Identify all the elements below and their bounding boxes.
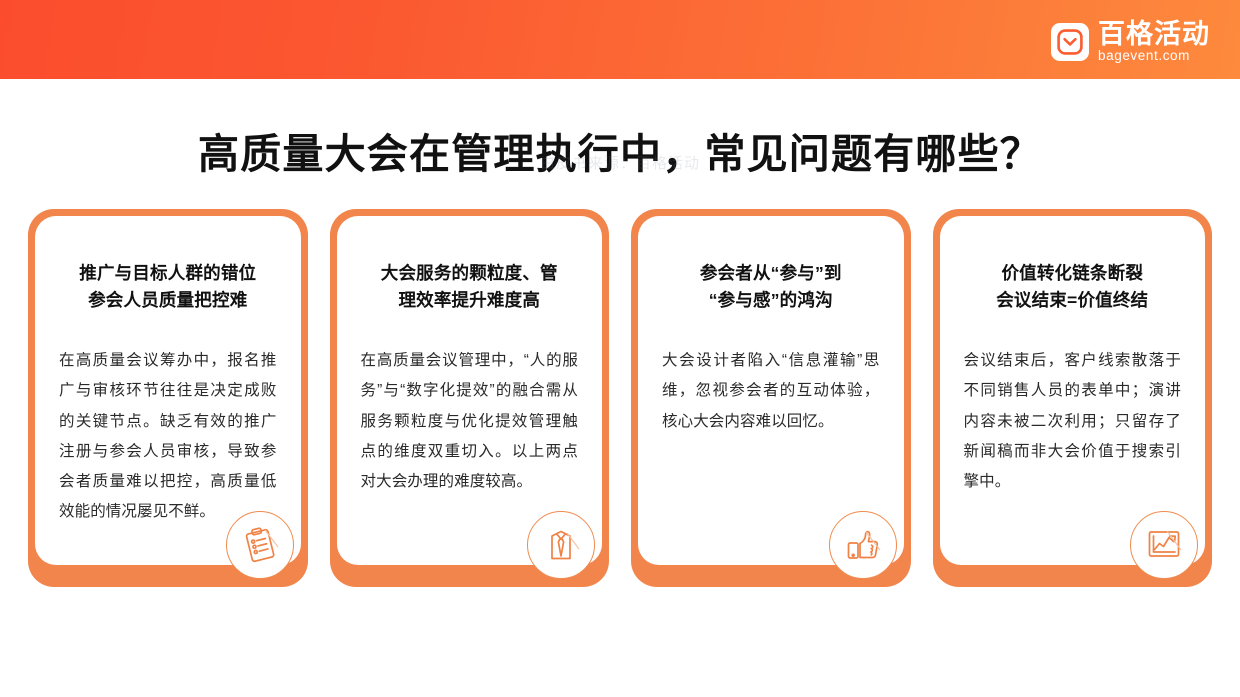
problem-card-list: 推广与目标人群的错位 参会人员质量把控难 在高质量会议筹办中，报名推广与审核环节… — [28, 209, 1212, 587]
card-title-line2: “参与感”的鸿沟 — [662, 287, 880, 314]
page-header: 百格活动 bagevent.com — [0, 0, 1240, 79]
growth-chart-icon — [1130, 511, 1198, 579]
card-title-line1: 参会者从“参与”到 — [662, 260, 880, 287]
card-body-text: 在高质量会议筹办中，报名推广与审核环节往往是决定成败的关键节点。缺乏有效的推广注… — [59, 346, 277, 527]
brand-logo[interactable]: 百格活动 bagevent.com — [1051, 20, 1210, 64]
source-watermark: 白皮书来源：百格活动 — [0, 152, 1240, 173]
chevron-down-rounded-square-icon — [1051, 23, 1089, 61]
card-title: 价值转化链条断裂 会议结束=价值终结 — [964, 260, 1182, 314]
brand-name-cn: 百格活动 — [1098, 20, 1210, 48]
problem-card[interactable]: 价值转化链条断裂 会议结束=价值终结 会议结束后，客户线索散落于不同销售人员的表… — [933, 209, 1213, 587]
card-title: 大会服务的颗粒度、管 理效率提升难度高 — [361, 260, 579, 314]
clipboard-checklist-icon — [226, 511, 294, 579]
brand-domain: bagevent.com — [1098, 49, 1190, 64]
card-title-line2: 参会人员质量把控难 — [59, 287, 277, 314]
thumbs-up-phone-icon — [829, 511, 897, 579]
card-title: 参会者从“参与”到 “参与感”的鸿沟 — [662, 260, 880, 314]
problem-card[interactable]: 推广与目标人群的错位 参会人员质量把控难 在高质量会议筹办中，报名推广与审核环节… — [28, 209, 308, 587]
card-title-line2: 会议结束=价值终结 — [964, 287, 1182, 314]
card-title-line1: 大会服务的颗粒度、管 — [361, 260, 579, 287]
card-title-line1: 价值转化链条断裂 — [964, 260, 1182, 287]
card-body-text: 会议结束后，客户线索散落于不同销售人员的表单中；演讲内容未被二次利用；只留存了新… — [964, 346, 1182, 497]
card-title-line2: 理效率提升难度高 — [361, 287, 579, 314]
problem-card[interactable]: 参会者从“参与”到 “参与感”的鸿沟 大会设计者陷入“信息灌输”思维，忽视参会者… — [631, 209, 911, 587]
card-title-line1: 推广与目标人群的错位 — [59, 260, 277, 287]
problem-card[interactable]: 大会服务的颗粒度、管 理效率提升难度高 在高质量会议管理中，“人的服务”与“数字… — [330, 209, 610, 587]
card-body-text: 大会设计者陷入“信息灌输”思维，忽视参会者的互动体验，核心大会内容难以回忆。 — [662, 346, 880, 437]
shirt-necktie-icon — [527, 511, 595, 579]
card-title: 推广与目标人群的错位 参会人员质量把控难 — [59, 260, 277, 314]
card-body-text: 在高质量会议管理中，“人的服务”与“数字化提效”的融合需从服务颗粒度与优化提效管… — [361, 346, 579, 497]
